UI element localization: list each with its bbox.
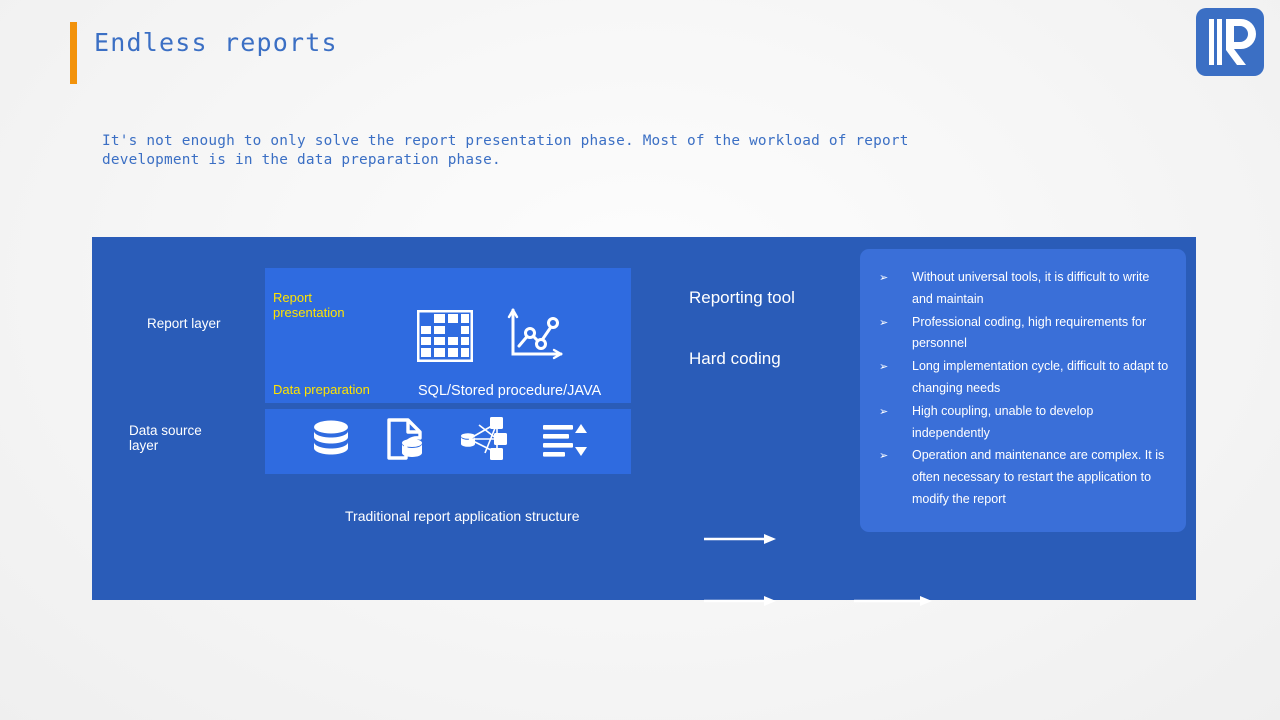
title-accent-bar bbox=[70, 22, 77, 84]
flow-label-reporting-tool: Reporting tool bbox=[689, 288, 795, 308]
arrow-hard-coding-outbound bbox=[854, 594, 932, 612]
label-data-preparation: Data preparation bbox=[273, 382, 370, 397]
list-item: ➢ Operation and maintenance are complex.… bbox=[874, 445, 1170, 510]
list-item-label: Long implementation cycle, difficult to … bbox=[912, 356, 1170, 400]
list-item: ➢ Professional coding, high requirements… bbox=[874, 312, 1170, 356]
network-nodes-icon bbox=[457, 415, 509, 468]
r-logo-glyph bbox=[1196, 8, 1264, 76]
list-item: ➢ Long implementation cycle, difficult t… bbox=[874, 356, 1170, 400]
list-sort-icon bbox=[540, 418, 588, 465]
layer-label-data-source: Data source layer bbox=[129, 423, 202, 453]
chevron-right-icon: ➢ bbox=[874, 267, 912, 289]
data-source-panel bbox=[265, 409, 631, 474]
layer-label-report: Report layer bbox=[147, 316, 221, 331]
flow-label-hard-coding: Hard coding bbox=[689, 349, 781, 369]
diagram-stage: Report layer Data source layer Report pr… bbox=[92, 237, 1196, 600]
list-item-label: Professional coding, high requirements f… bbox=[912, 312, 1170, 356]
table-grid-icon bbox=[417, 310, 473, 367]
list-item: ➢ High coupling, unable to develop indep… bbox=[874, 401, 1170, 445]
page-title: Endless reports bbox=[94, 28, 338, 57]
r-logo bbox=[1196, 8, 1264, 76]
label-report-presentation: Report presentation bbox=[273, 290, 345, 320]
arrow-to-reporting-tool bbox=[704, 532, 776, 550]
line-chart-icon bbox=[505, 306, 567, 369]
list-item-label: Without universal tools, it is difficult… bbox=[912, 267, 1170, 311]
drawbacks-card: ➢ Without universal tools, it is difficu… bbox=[860, 249, 1186, 532]
list-item-label: High coupling, unable to develop indepen… bbox=[912, 401, 1170, 445]
arrow-to-hard-coding bbox=[704, 594, 776, 612]
report-layer-panel: Report presentation Data preparation bbox=[265, 268, 631, 403]
sql-stored-procedure-label: SQL/Stored procedure/JAVA bbox=[418, 383, 601, 399]
chevron-right-icon: ➢ bbox=[874, 445, 912, 467]
chevron-right-icon: ➢ bbox=[874, 401, 912, 423]
chevron-right-icon: ➢ bbox=[874, 312, 912, 334]
list-item: ➢ Without universal tools, it is difficu… bbox=[874, 267, 1170, 311]
diagram-caption: Traditional report application structure bbox=[345, 508, 580, 524]
intro-paragraph: It's not enough to only solve the report… bbox=[102, 132, 932, 170]
file-database-icon bbox=[384, 416, 426, 467]
chevron-right-icon: ➢ bbox=[874, 356, 912, 378]
database-icon bbox=[309, 418, 353, 465]
list-item-label: Operation and maintenance are complex. I… bbox=[912, 445, 1170, 510]
